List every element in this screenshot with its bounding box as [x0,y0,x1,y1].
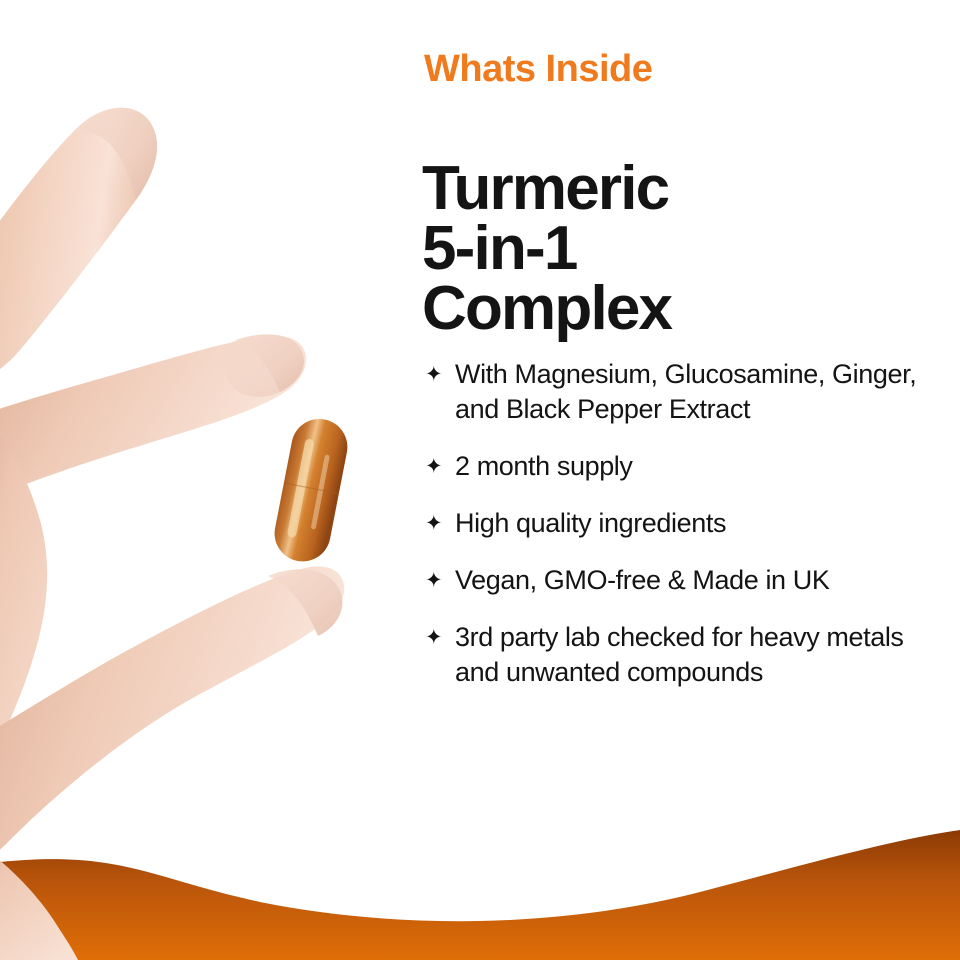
sparkle-icon: ✦ [424,506,455,541]
page-title-line-1: Turmeric [422,159,671,219]
list-item: ✦ High quality ingredients [424,506,954,541]
eyebrow-heading: Whats Inside [424,50,652,90]
sparkle-icon: ✦ [424,449,455,484]
sparkle-icon: ✦ [424,620,455,655]
sparkle-icon: ✦ [424,357,455,392]
list-item-label: With Magnesium, Glucosamine, Ginger, and… [455,357,954,427]
list-item: ✦ 3rd party lab checked for heavy metals… [424,620,954,690]
turmeric-capsule [270,414,352,566]
hand-holding-capsule-image [0,0,420,960]
sparkle-icon: ✦ [424,563,455,598]
list-item-label: 2 month supply [455,449,954,484]
page-title-line-3: Complex [422,279,671,339]
text-content-column: Whats Inside Turmeric 5-in-1 Complex ✦ W… [424,0,960,960]
feature-list: ✦ With Magnesium, Glucosamine, Ginger, a… [424,357,954,690]
page-title-line-2: 5-in-1 [422,219,671,279]
product-info-card: Whats Inside Turmeric 5-in-1 Complex ✦ W… [0,0,960,960]
list-item: ✦ Vegan, GMO-free & Made in UK [424,563,954,598]
list-item-label: Vegan, GMO-free & Made in UK [455,563,954,598]
page-title: Turmeric 5-in-1 Complex [422,159,671,339]
list-item: ✦ 2 month supply [424,449,954,484]
list-item: ✦ With Magnesium, Glucosamine, Ginger, a… [424,357,954,427]
list-item-label: High quality ingredients [455,506,954,541]
list-item-label: 3rd party lab checked for heavy metals a… [455,620,954,690]
